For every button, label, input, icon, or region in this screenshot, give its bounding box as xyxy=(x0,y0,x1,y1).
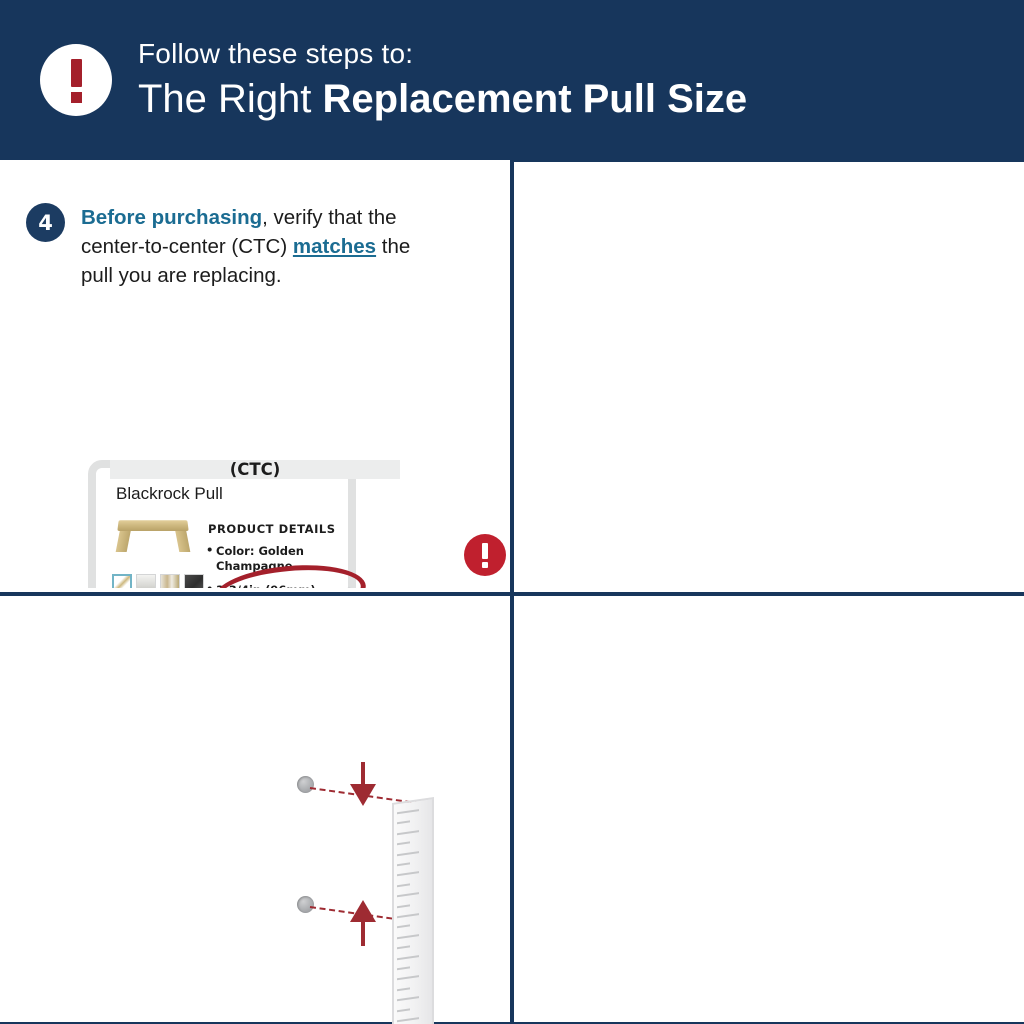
product-image-leg-right xyxy=(175,528,191,552)
steps-grid: 1 First, it’s important to understand ce… xyxy=(0,160,1024,1024)
header-eyebrow: Follow these steps to: xyxy=(138,36,747,71)
ruler-tick xyxy=(397,809,419,814)
product-thumbnail-strip[interactable] xyxy=(112,574,204,588)
measure-arrow-up-icon xyxy=(350,900,376,922)
ruler-tick xyxy=(397,830,419,835)
title-bold: Replacement Pull Size xyxy=(323,77,748,121)
matches-link[interactable]: matches xyxy=(293,235,376,258)
ruler-tick xyxy=(397,955,419,960)
ruler-tick xyxy=(397,862,410,866)
ruler-tick xyxy=(397,987,410,991)
ruler-tick xyxy=(397,913,419,918)
product-image-leg-left xyxy=(116,528,132,552)
exclamation-icon xyxy=(40,44,112,116)
ruler-tick xyxy=(397,946,410,950)
header-text: Follow these steps to: The Right Replace… xyxy=(138,36,747,125)
step-4-text-bold: Before purchasing xyxy=(81,206,262,229)
ruler-tick xyxy=(397,904,410,908)
ruler-tick xyxy=(397,966,410,970)
ctc-abbrev-label: (CTC) xyxy=(110,460,400,479)
ruler-tick xyxy=(397,1008,410,1012)
page-title: The Right Replacement Pull Size xyxy=(138,73,747,125)
ruler-tick xyxy=(397,851,419,856)
thumbnail-cabinet-icon[interactable] xyxy=(160,574,180,588)
step-panel-4: 4 Before purchasing, verify that the cen… xyxy=(0,160,510,588)
ruler-tick xyxy=(397,925,410,929)
ruler-tick xyxy=(397,1017,419,1022)
title-light: The Right xyxy=(138,77,323,121)
measure-arrow-stem-down xyxy=(361,762,365,786)
step-4-header: 4 Before purchasing, verify that the cen… xyxy=(26,203,446,290)
thumbnail-knob-icon[interactable] xyxy=(136,574,156,588)
grid-horizontal-divider xyxy=(0,592,1024,596)
thumbnail-dark-icon[interactable] xyxy=(184,574,204,588)
measure-arrow-down-icon xyxy=(350,784,376,806)
ruler-tick xyxy=(397,976,419,981)
product-page-monitor: Blackrock Pull PRODUCT DETAILS xyxy=(88,460,356,588)
exclamation-circle-icon xyxy=(464,534,506,576)
product-details-heading: PRODUCT DETAILS xyxy=(208,522,336,536)
screw-hole-top-3 xyxy=(297,776,314,793)
product-image-bar xyxy=(117,520,188,531)
product-image xyxy=(112,512,194,560)
product-title: Blackrock Pull xyxy=(116,484,223,504)
monitor-screen: Blackrock Pull PRODUCT DETAILS xyxy=(88,460,356,588)
mouse-pointer-icon xyxy=(346,586,388,588)
infographic-page: Follow these steps to: The Right Replace… xyxy=(0,0,1024,1024)
step-4-text: Before purchasing, verify that the cente… xyxy=(81,203,446,290)
ruler-tick xyxy=(397,892,419,897)
thumbnail-pull-icon[interactable] xyxy=(112,574,132,588)
ruler-tick xyxy=(397,996,419,1001)
ruler-tick xyxy=(397,821,410,825)
measure-arrow-stem-up xyxy=(361,922,365,946)
ruler-tick xyxy=(397,872,419,877)
page-header: Follow these steps to: The Right Replace… xyxy=(0,0,1024,160)
ruler-graphic xyxy=(392,797,434,1024)
ruler-tick xyxy=(397,934,419,939)
step-number-badge-4: 4 xyxy=(26,203,65,242)
screw-hole-bottom-3 xyxy=(297,896,314,913)
ruler-tick xyxy=(397,883,410,887)
ruler-tick xyxy=(397,842,410,846)
